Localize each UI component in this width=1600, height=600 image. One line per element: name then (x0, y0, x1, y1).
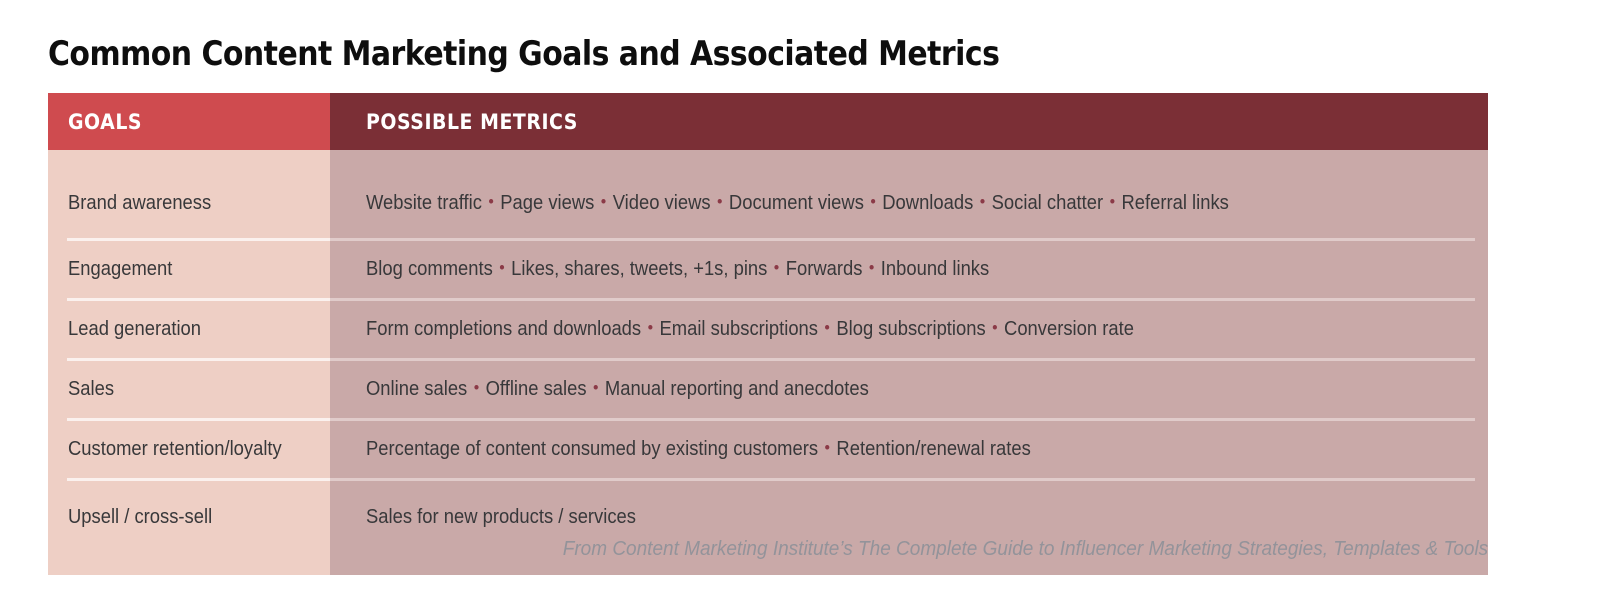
metric-item: Inbound links (881, 258, 989, 280)
row-divider (48, 478, 1488, 481)
goal-cell: Lead generation (48, 301, 330, 358)
row-divider-right (330, 238, 1488, 241)
table-body: Brand awarenessWebsite traffic•Page view… (48, 150, 1488, 575)
row-divider (48, 298, 1488, 301)
table-header-row: GOALS POSSIBLE METRICS (48, 93, 1488, 150)
bullet-separator-icon: • (587, 378, 605, 397)
table-header: GOALS POSSIBLE METRICS (48, 93, 1488, 150)
metric-item: Sales for new products / services (366, 506, 636, 528)
metric-item: Email subscriptions (659, 318, 818, 340)
table-row: Brand awarenessWebsite traffic•Page view… (48, 150, 1488, 238)
row-divider-left (48, 478, 330, 481)
goal-label: Lead generation (68, 318, 201, 341)
row-divider-right (330, 478, 1488, 481)
metric-item: Likes, shares, tweets, +1s, pins (511, 258, 767, 280)
column-header-goals: GOALS (48, 93, 330, 150)
metric-item: Blog comments (366, 258, 493, 280)
table-row: Lead generationForm completions and down… (48, 301, 1488, 358)
table-row: EngagementBlog comments•Likes, shares, t… (48, 241, 1488, 298)
bullet-separator-icon: • (862, 258, 880, 277)
metric-item: Conversion rate (1004, 318, 1134, 340)
metric-item: Percentage of content consumed by existi… (366, 438, 818, 460)
metrics-list: Percentage of content consumed by existi… (366, 438, 1031, 461)
metric-item: Manual reporting and anecdotes (605, 378, 869, 400)
metrics-list: Website traffic•Page views•Video views•D… (366, 192, 1229, 215)
metrics-cell: Online sales•Offline sales•Manual report… (330, 361, 1488, 418)
metric-item: Online sales (366, 378, 467, 400)
infographic-table-page: Common Content Marketing Goals and Assoc… (0, 0, 1600, 600)
metric-item: Forwards (786, 258, 863, 280)
metric-item: Downloads (882, 192, 973, 214)
metric-item: Social chatter (992, 192, 1103, 214)
row-divider-left (48, 358, 330, 361)
metric-item: Document views (729, 192, 864, 214)
metrics-list: Online sales•Offline sales•Manual report… (366, 378, 869, 401)
bullet-separator-icon: • (711, 192, 729, 211)
metrics-cell: Percentage of content consumed by existi… (330, 421, 1488, 478)
table-row: Customer retention/loyaltyPercentage of … (48, 421, 1488, 478)
metric-item: Blog subscriptions (836, 318, 985, 340)
table-row: SalesOnline sales•Offline sales•Manual r… (48, 361, 1488, 418)
goal-label: Sales (68, 378, 114, 401)
metrics-list: Form completions and downloads•Email sub… (366, 318, 1134, 341)
bullet-separator-icon: • (818, 438, 836, 457)
row-divider-left (48, 298, 330, 301)
metric-item: Offline sales (486, 378, 587, 400)
goal-label: Brand awareness (68, 192, 211, 215)
bullet-separator-icon: • (493, 258, 511, 277)
bullet-separator-icon: • (767, 258, 785, 277)
column-header-metrics: POSSIBLE METRICS (330, 93, 1488, 150)
metric-item: Form completions and downloads (366, 318, 641, 340)
source-caption: From Content Marketing Institute’s The C… (563, 538, 1488, 561)
goal-cell: Upsell / cross-sell (48, 481, 330, 575)
row-divider (48, 358, 1488, 361)
bullet-separator-icon: • (467, 378, 485, 397)
bullet-separator-icon: • (641, 318, 659, 337)
column-header-metrics-label: POSSIBLE METRICS (366, 110, 578, 134)
metrics-cell: Blog comments•Likes, shares, tweets, +1s… (330, 241, 1488, 298)
bullet-separator-icon: • (594, 192, 612, 211)
metrics-cell: Form completions and downloads•Email sub… (330, 301, 1488, 358)
bullet-separator-icon: • (482, 192, 500, 211)
goals-metrics-table: GOALS POSSIBLE METRICS Brand awarenessWe… (48, 93, 1488, 575)
bullet-separator-icon: • (973, 192, 991, 211)
goal-label: Engagement (68, 258, 172, 281)
row-divider (48, 238, 1488, 241)
row-divider-left (48, 238, 330, 241)
goal-label: Upsell / cross-sell (68, 506, 212, 529)
metric-item: Video views (613, 192, 711, 214)
bullet-separator-icon: • (818, 318, 836, 337)
row-divider-left (48, 418, 330, 421)
goal-cell: Sales (48, 361, 330, 418)
metrics-list: Blog comments•Likes, shares, tweets, +1s… (366, 258, 989, 281)
row-divider-right (330, 358, 1488, 361)
metric-item: Referral links (1121, 192, 1228, 214)
metric-item: Page views (500, 192, 594, 214)
goal-cell: Engagement (48, 241, 330, 298)
metrics-cell: Website traffic•Page views•Video views•D… (330, 150, 1488, 238)
column-header-goals-label: GOALS (68, 110, 142, 134)
bullet-separator-icon: • (864, 192, 882, 211)
row-divider-right (330, 298, 1488, 301)
goal-label: Customer retention/loyalty (68, 438, 282, 461)
metric-item: Retention/renewal rates (836, 438, 1030, 460)
metrics-list: Sales for new products / services (366, 506, 636, 529)
goal-cell: Customer retention/loyalty (48, 421, 330, 478)
bullet-separator-icon: • (986, 318, 1004, 337)
row-divider-right (330, 418, 1488, 421)
goal-cell: Brand awareness (48, 150, 330, 238)
row-divider (48, 418, 1488, 421)
metric-item: Website traffic (366, 192, 482, 214)
page-title: Common Content Marketing Goals and Assoc… (48, 34, 999, 74)
bullet-separator-icon: • (1103, 192, 1121, 211)
